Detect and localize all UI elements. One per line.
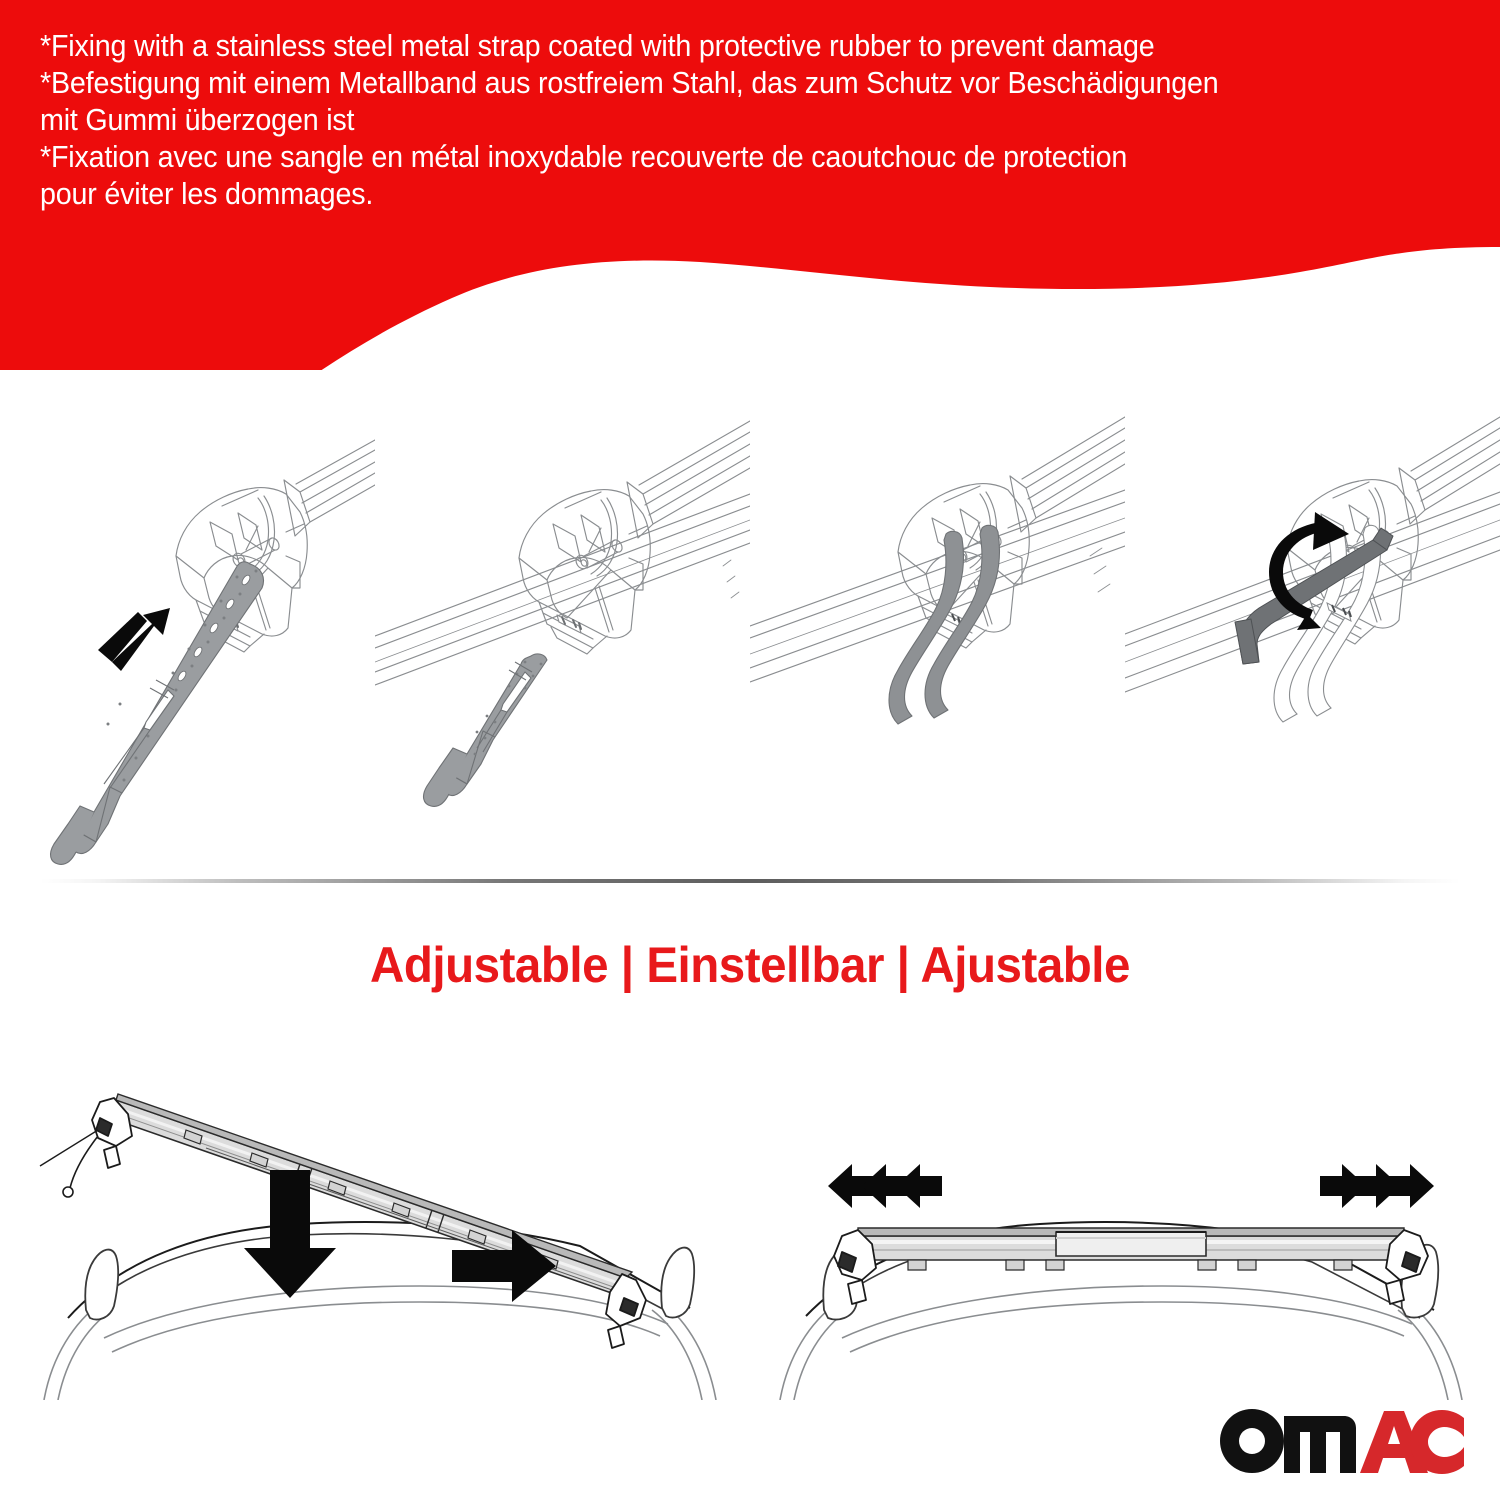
banner-feature-text: *Fixing with a stainless steel metal str… — [40, 28, 1375, 212]
adjust-width-illustration — [750, 1060, 1500, 1400]
step-panel-4 — [1125, 372, 1500, 872]
bottom-panel-adjust — [750, 1060, 1500, 1400]
omac-logo-mark — [1214, 1396, 1464, 1478]
step-panel-3 — [750, 372, 1125, 872]
triple-left-arrow-icon — [828, 1164, 942, 1208]
step-tighten-allen-key-illustration — [1125, 372, 1500, 872]
logo-letter-o — [1220, 1409, 1284, 1473]
step-strap-wrapped-illustration — [750, 372, 1125, 872]
step-panel-2 — [375, 372, 750, 872]
adjustable-headline-text: Adjustable | Einstellbar | Ajustable — [370, 936, 1130, 994]
logo-letter-m — [1284, 1416, 1356, 1473]
assembly-steps-row — [0, 372, 1500, 872]
section-divider — [40, 879, 1460, 883]
triple-right-arrow-icon — [1320, 1164, 1434, 1208]
step-panel-1 — [0, 372, 375, 872]
step-strap-on-rail-illustration — [375, 372, 750, 872]
bottom-panel-mount — [0, 1060, 750, 1400]
adjustable-headline: Adjustable | Einstellbar | Ajustable — [0, 936, 1500, 994]
adjustable-diagrams-row — [0, 1060, 1500, 1400]
feature-banner: *Fixing with a stainless steel metal str… — [0, 0, 1500, 370]
mount-crossbar-illustration — [0, 1060, 750, 1400]
step-insert-strap-illustration — [0, 372, 375, 872]
up-arrow-icon — [98, 608, 170, 671]
omac-logo — [1214, 1396, 1464, 1478]
